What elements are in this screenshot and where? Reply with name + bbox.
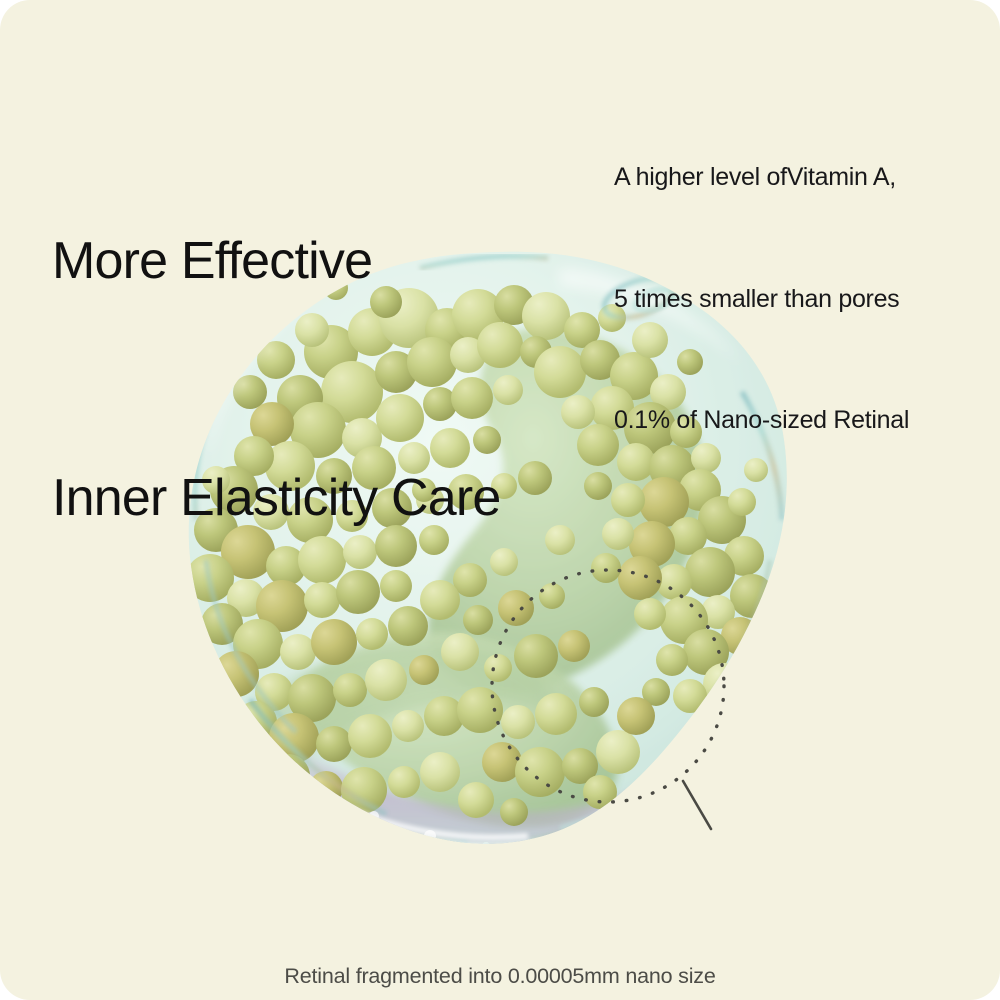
caption-line-1: Retinal fragmented into 0.00005mm nano s…: [0, 958, 1000, 995]
promo-card: More Effective Inner Elasticity Care A h…: [0, 0, 1000, 1000]
product-claims: A higher level ofVitamin A, 5 times smal…: [614, 76, 1000, 522]
illustration-caption: Retinal fragmented into 0.00005mm nano s…: [0, 884, 1000, 1000]
headline-line-2: Inner Elasticity Care: [52, 459, 592, 538]
glass-folds: [236, 722, 704, 861]
lavender-band: [288, 742, 686, 852]
headline-line-1: More Effective: [52, 222, 592, 301]
claim-line-1: A higher level ofVitamin A,: [614, 157, 1000, 198]
page-title: More Effective Inner Elasticity Care: [52, 64, 592, 696]
claim-line-3: 0.1% of Nano-sized Retinal: [614, 400, 1000, 441]
callout-leader-line: [683, 781, 711, 829]
edge-shine: [369, 811, 490, 850]
claim-line-2: 5 times smaller than pores: [614, 279, 1000, 320]
